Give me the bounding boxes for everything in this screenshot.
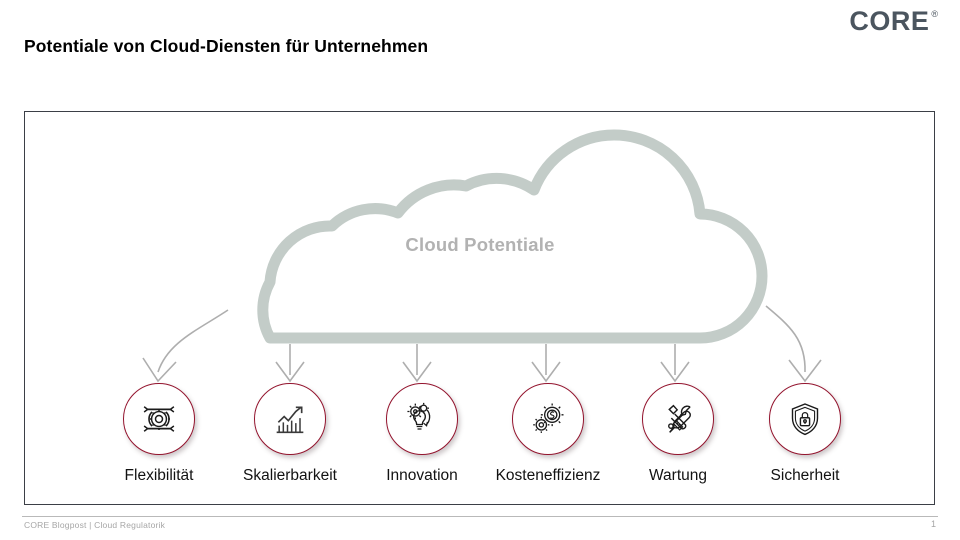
gears-dollar-icon — [528, 399, 568, 439]
footer-divider — [22, 516, 938, 517]
lightbulb-gears-icon — [402, 399, 442, 439]
node-circle[interactable] — [512, 383, 584, 455]
node-label: Sicherheit — [730, 467, 880, 485]
node-flexibilitaet[interactable]: Flexibilität — [84, 383, 234, 485]
node-label: Skalierbarkeit — [215, 467, 365, 485]
bar-chart-growth-icon — [270, 399, 310, 439]
registered-trademark-icon: ® — [931, 10, 938, 19]
node-circle[interactable] — [254, 383, 326, 455]
cloud-label: Cloud Potentiale — [0, 234, 960, 256]
gear-arrows-icon — [138, 398, 180, 440]
core-logo: CORE ® — [849, 8, 938, 35]
node-circle[interactable] — [123, 383, 195, 455]
core-logo-wordmark: CORE — [849, 8, 929, 35]
page-title: Potentiale von Cloud-Diensten für Untern… — [24, 36, 428, 57]
node-label: Kosteneffizienz — [473, 467, 623, 485]
wrench-screwdriver-icon — [658, 399, 698, 439]
node-sicherheit[interactable]: Sicherheit — [730, 383, 880, 485]
node-circle[interactable] — [769, 383, 841, 455]
node-circle[interactable] — [642, 383, 714, 455]
page-number: 1 — [931, 519, 936, 529]
node-skalierbarkeit[interactable]: Skalierbarkeit — [215, 383, 365, 485]
node-label: Flexibilität — [84, 467, 234, 485]
shield-lock-icon — [785, 399, 825, 439]
node-circle[interactable] — [386, 383, 458, 455]
node-kosteneffizienz[interactable]: Kosteneffizienz — [473, 383, 623, 485]
footer-text: CORE Blogpost | Cloud Regulatorik — [24, 520, 165, 530]
